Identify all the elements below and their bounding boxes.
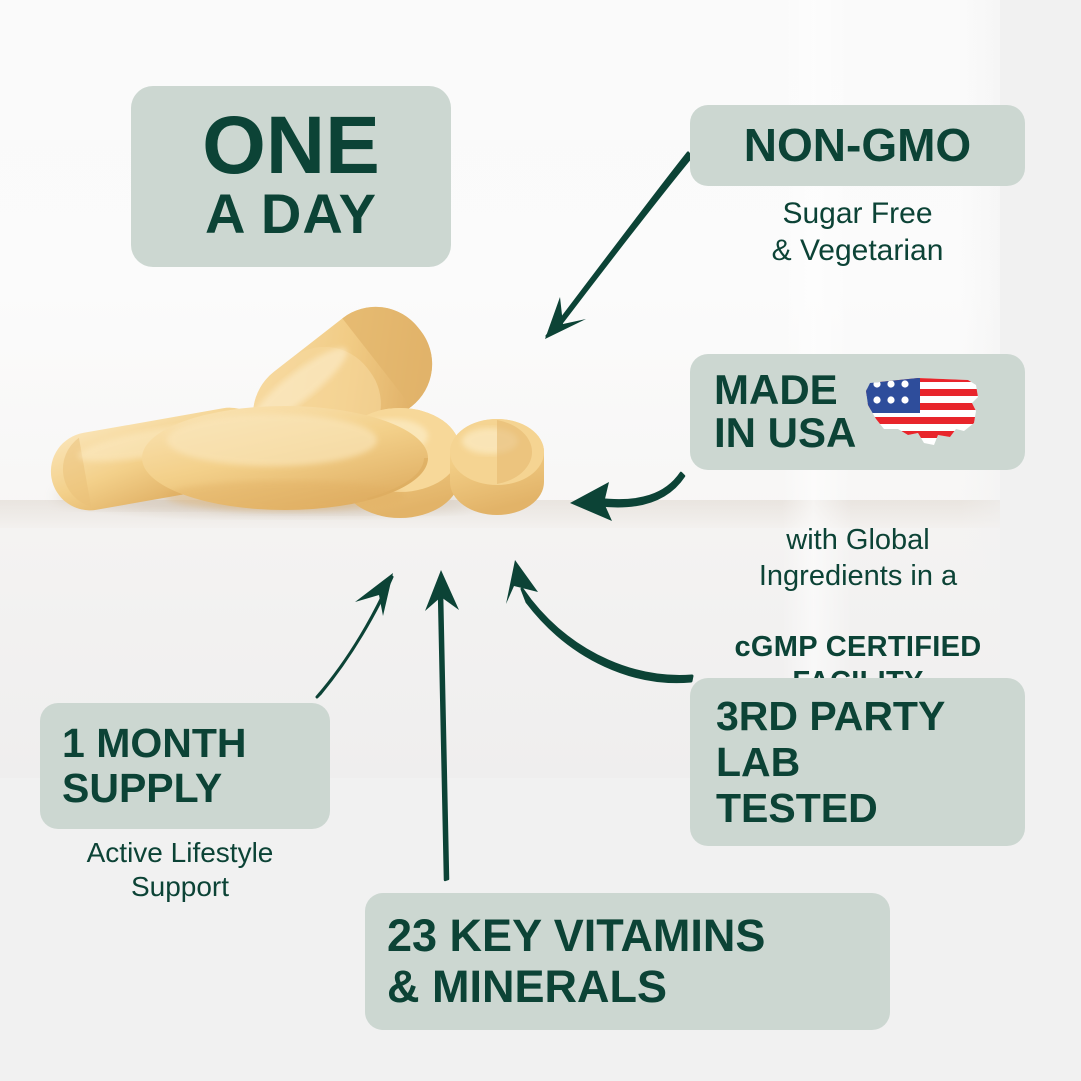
badge-one-a-day-line2: A DAY [205, 186, 377, 242]
badge-key-vitamins-minerals: 23 KEY VITAMINS & MINERALS [365, 893, 890, 1030]
infographic-canvas: ONE A DAY NON-GMO Sugar Free & Vegetaria… [0, 0, 1081, 1081]
badge-non-gmo-title: NON-GMO [744, 122, 971, 169]
caption-one-month-supply: Active Lifestyle Support [30, 836, 330, 904]
badge-one-a-day: ONE A DAY [131, 86, 451, 267]
badge-made-in-usa-title: MADE IN USA [714, 369, 856, 455]
badge-one-month-supply: 1 MONTH SUPPLY [40, 703, 330, 829]
badge-third-party-title: 3RD PARTY LAB TESTED [716, 693, 945, 832]
caption-non-gmo: Sugar Free & Vegetarian [690, 196, 1025, 269]
badge-third-party-lab-tested: 3RD PARTY LAB TESTED [690, 678, 1025, 846]
tablets-illustration [40, 300, 570, 520]
usa-flag-map-icon [864, 371, 986, 455]
badge-one-month-supply-title: 1 MONTH SUPPLY [62, 721, 247, 811]
badge-key-vitamins-title: 23 KEY VITAMINS & MINERALS [387, 911, 765, 1012]
badge-non-gmo: NON-GMO [690, 105, 1025, 186]
badge-one-a-day-line1: ONE [202, 107, 380, 184]
badge-made-in-usa: MADE IN USA [690, 354, 1025, 470]
vitamin-tablets-photo [40, 300, 570, 520]
caption-made-in-usa-normal: with Global Ingredients in a [688, 523, 1028, 594]
